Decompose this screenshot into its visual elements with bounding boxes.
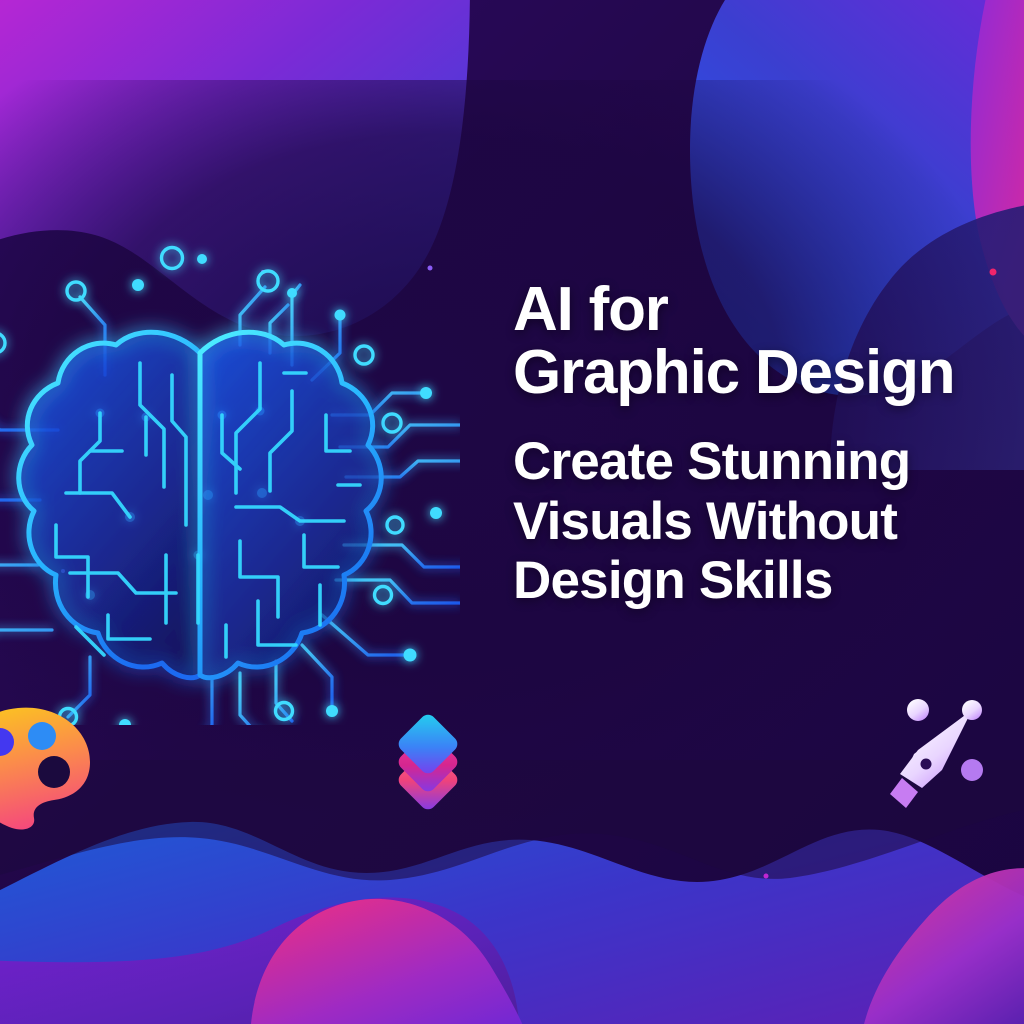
subtitle-line-1: Create Stunning xyxy=(513,432,1024,491)
pen-anchor-top-left xyxy=(907,699,929,721)
layers-icon xyxy=(378,712,478,812)
pen-anchor-bottom-right xyxy=(961,759,983,781)
palette-dot-blue xyxy=(28,722,56,750)
ai-graphic-design-banner: AI for Graphic Design Create Stunning Vi… xyxy=(0,0,1024,1024)
pen-anchor-top-right xyxy=(962,700,982,720)
pen-nib-hole xyxy=(921,759,932,770)
brain-outline xyxy=(19,332,382,678)
accent-dot-magenta xyxy=(764,874,769,879)
accent-dot-pink xyxy=(990,269,997,276)
headline-block: AI for Graphic Design Create Stunning Vi… xyxy=(513,278,1024,611)
palette-icon xyxy=(0,700,118,830)
title-line-1: AI for xyxy=(513,278,1024,341)
pen-tool-icon xyxy=(884,692,1004,812)
ai-circuit-brain-illustration xyxy=(0,225,460,725)
subtitle-line-2: Visuals Without xyxy=(513,492,1024,551)
palette-thumb-hole xyxy=(38,756,70,788)
page-title: AI for Graphic Design xyxy=(513,278,1024,404)
pen-nib-body xyxy=(900,710,972,788)
title-line-2: Graphic Design xyxy=(513,341,1024,404)
subtitle-line-3: Design Skills xyxy=(513,551,1024,610)
page-subtitle: Create Stunning Visuals Without Design S… xyxy=(513,432,1024,610)
